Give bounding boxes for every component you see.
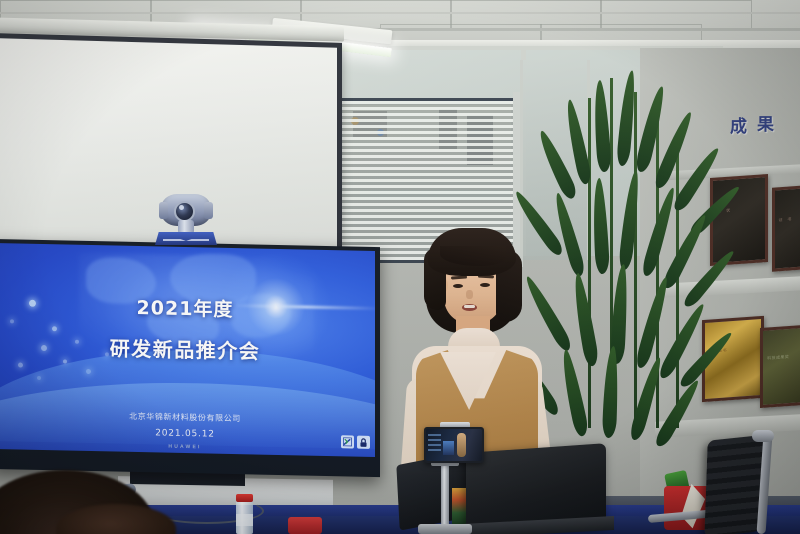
ptz-camera-arm-right bbox=[204, 202, 213, 219]
phone-tripod[interactable] bbox=[432, 455, 458, 534]
ptz-camera-lens-glint bbox=[179, 205, 184, 210]
water-bottle-label bbox=[236, 514, 253, 526]
phone-preview-graphic bbox=[443, 441, 454, 455]
wall-heading-char-2: 果 bbox=[757, 110, 774, 135]
huawei-display-tv[interactable]: 2021年度 研发新品推介会 北京华锦新材料股份有限公司 2021.05.12 … bbox=[0, 239, 380, 477]
screenshot-root: 成 果 奖 状 证 书 荣誉证书 科技成果奖 bbox=[0, 0, 800, 534]
potted-plant bbox=[548, 58, 738, 478]
award-plaque: 科技成果奖 bbox=[760, 324, 800, 408]
teeth bbox=[464, 305, 475, 308]
award-plaque: 证 书 bbox=[772, 184, 800, 271]
tripod-foot bbox=[418, 524, 472, 534]
office-chair-back[interactable] bbox=[704, 435, 763, 534]
ptz-camera-neck bbox=[178, 220, 194, 234]
chair-frame-top bbox=[752, 430, 774, 442]
smartphone-on-tripod[interactable] bbox=[424, 427, 484, 463]
water-bottle-cap bbox=[236, 494, 253, 502]
eye-left bbox=[453, 284, 463, 288]
red-desk-item bbox=[288, 517, 322, 534]
ptz-camera-base bbox=[155, 232, 217, 245]
ptz-camera[interactable] bbox=[155, 190, 217, 245]
phone-screen[interactable] bbox=[426, 429, 482, 461]
eye-right bbox=[480, 283, 490, 287]
nose bbox=[466, 290, 473, 299]
tv-panel: 2021年度 研发新品推介会 北京华锦新材料股份有限公司 2021.05.12 … bbox=[0, 243, 375, 457]
ptz-camera-arm-left bbox=[159, 202, 168, 219]
ptz-camera-lens bbox=[174, 201, 195, 222]
phone-camera-ui bbox=[428, 434, 440, 454]
phone-preview-subject bbox=[457, 433, 466, 456]
